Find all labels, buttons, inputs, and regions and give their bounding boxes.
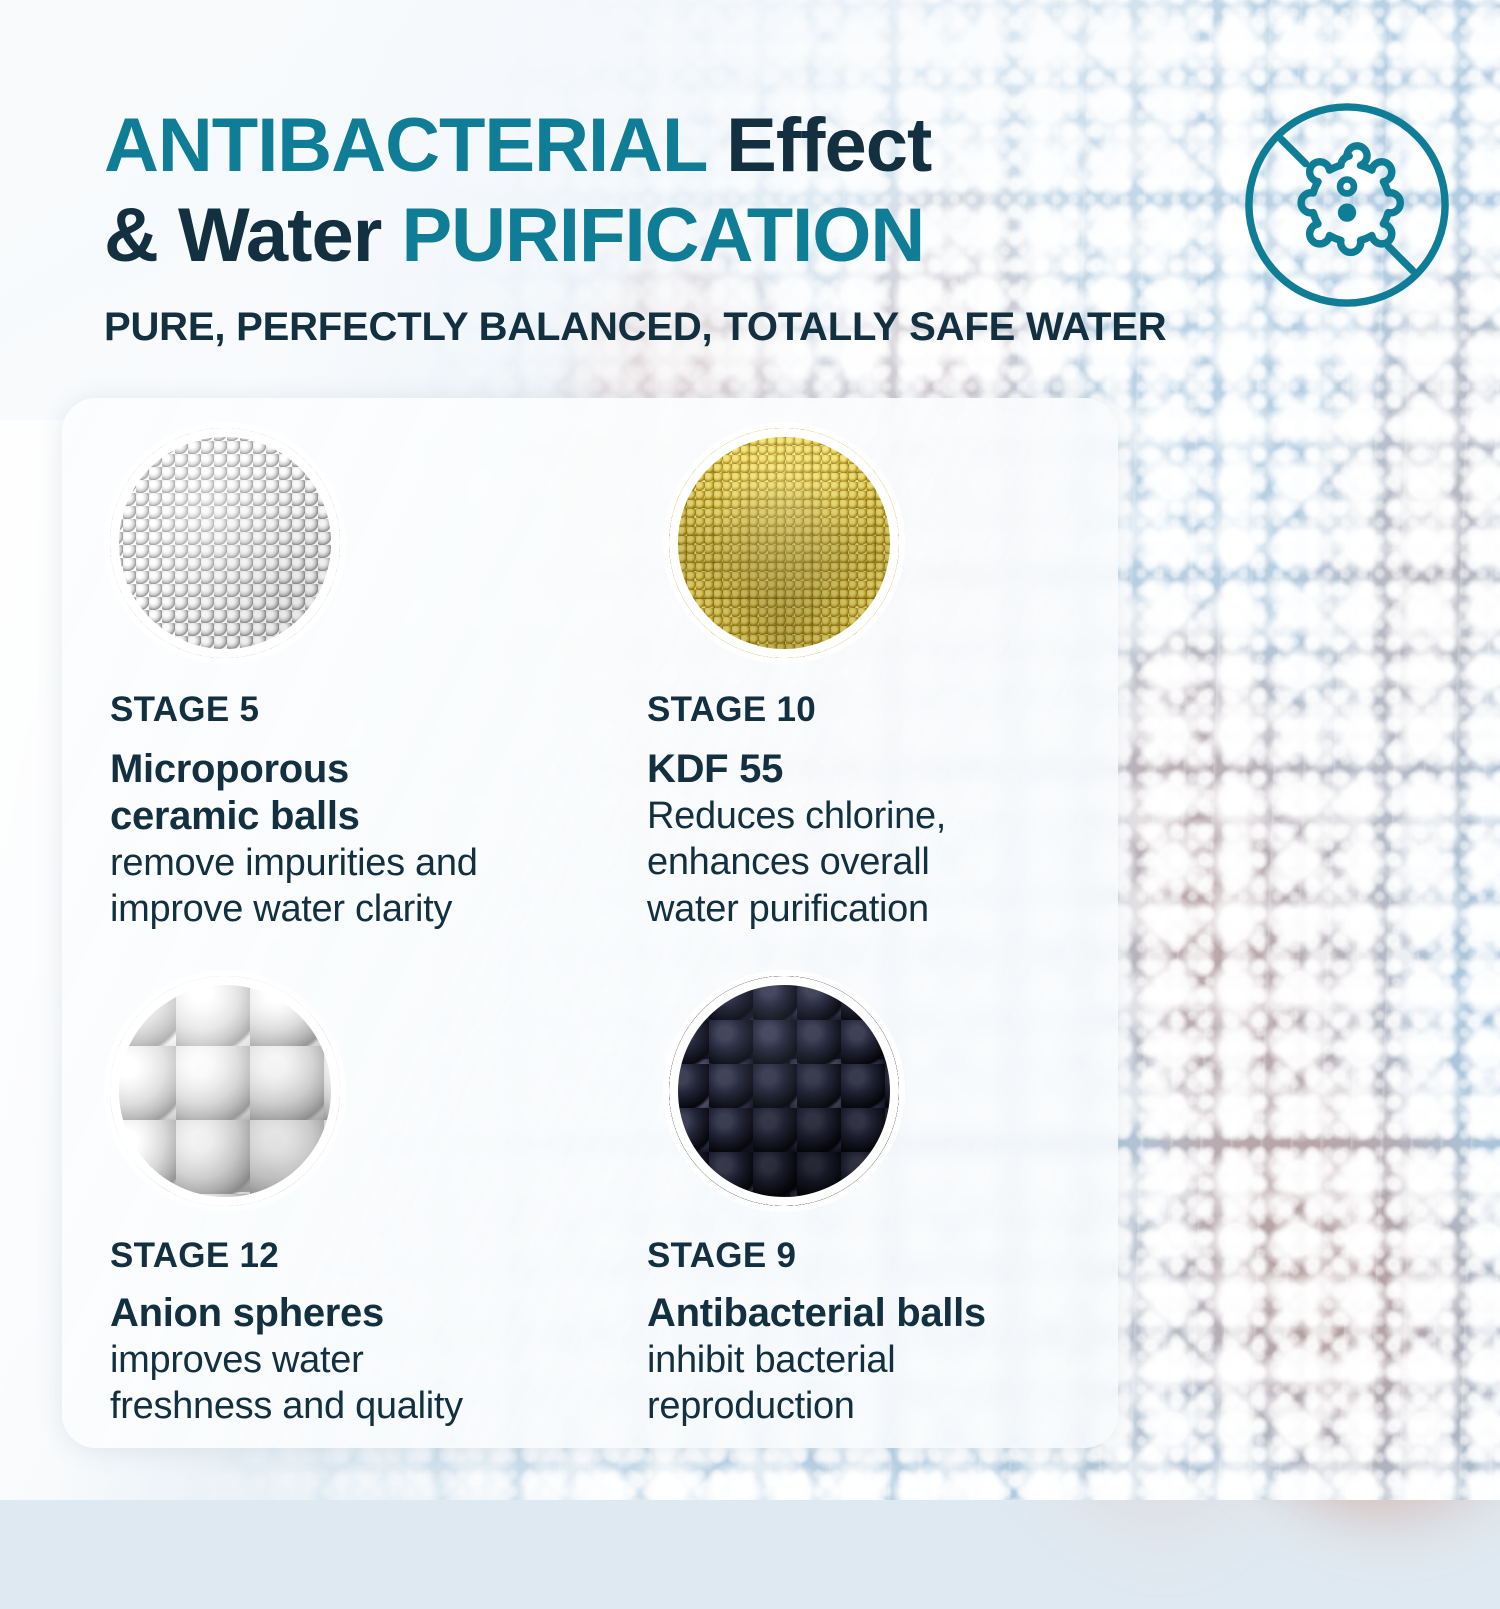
antibacterial-balls-photo (669, 976, 899, 1206)
microporous-ceramic-balls-photo (110, 428, 340, 658)
stage-desc-line1: remove impurities and (110, 840, 590, 886)
stage-name: KDF 55 (647, 746, 1087, 793)
stage-desc-line2: improve water clarity (110, 886, 590, 932)
title-antibacterial: ANTIBACTERIAL (104, 103, 706, 188)
stage-desc-line1: Reduces chlorine, (647, 793, 1087, 839)
stage-name: Microporous ceramic balls (110, 746, 590, 840)
stage-name: Anion spheres (110, 1290, 590, 1337)
virus-blocked-icon (1238, 96, 1456, 314)
stage-desc-line2: reproduction (647, 1383, 1087, 1429)
page-title: ANTIBACTERIAL Effect & Water PURIFICATIO… (104, 104, 1214, 277)
stages-grid: STAGE 5 Microporous ceramic balls remove… (62, 398, 1118, 1448)
stage-number: STAGE 5 (110, 690, 590, 730)
stage-item-10[interactable]: STAGE 10 KDF 55 Reduces chlorine, enhanc… (647, 428, 1087, 932)
stage-name-line1: Anion spheres (110, 1290, 590, 1337)
stage-description: remove impurities and improve water clar… (110, 840, 590, 933)
kdf-55-granules-photo (669, 428, 899, 658)
stage-item-9[interactable]: STAGE 9 Antibacterial balls inhibit bact… (647, 976, 1087, 1430)
stage-item-12[interactable]: STAGE 12 Anion spheres improves water fr… (110, 976, 590, 1430)
media-white-rim (110, 976, 340, 1206)
stage-desc-line1: improves water (110, 1337, 590, 1383)
stage-number: STAGE 12 (110, 1236, 590, 1276)
stage-desc-line1: inhibit bacterial (647, 1337, 1087, 1383)
stage-name-line1: KDF 55 (647, 746, 1087, 793)
media-white-rim (669, 976, 899, 1206)
stage-number: STAGE 9 (647, 1236, 1087, 1276)
stage-desc-line3: water purification (647, 886, 1087, 932)
stage-desc-line2: freshness and quality (110, 1383, 590, 1429)
stages-card: STAGE 5 Microporous ceramic balls remove… (62, 398, 1118, 1448)
stage-item-5[interactable]: STAGE 5 Microporous ceramic balls remove… (110, 428, 590, 932)
stage-description: improves water freshness and quality (110, 1337, 590, 1430)
title-and-water: & Water (104, 193, 381, 278)
stage-name-line1: Antibacterial balls (647, 1290, 1087, 1337)
stage-name: Antibacterial balls (647, 1290, 1087, 1337)
title-effect: Effect (726, 103, 931, 188)
media-white-rim (669, 428, 899, 658)
anion-spheres-photo (110, 976, 340, 1206)
stage-description: inhibit bacterial reproduction (647, 1337, 1087, 1430)
title-purification: PURIFICATION (401, 193, 924, 278)
page-subtitle: PURE, PERFECTLY BALANCED, TOTALLY SAFE W… (104, 305, 1166, 350)
stage-name-line1: Microporous (110, 746, 590, 793)
stage-number: STAGE 10 (647, 690, 1087, 730)
stage-desc-line2: enhances overall (647, 839, 1087, 885)
stage-name-line2: ceramic balls (110, 793, 590, 840)
stage-description: Reduces chlorine, enhances overall water… (647, 793, 1087, 932)
media-white-rim (110, 428, 340, 658)
